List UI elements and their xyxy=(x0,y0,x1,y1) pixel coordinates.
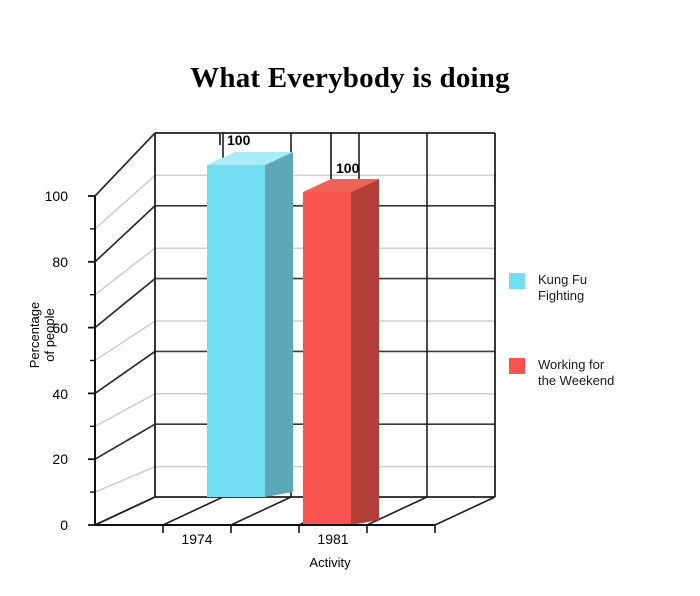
x-axis-title: Activity xyxy=(160,555,500,570)
legend-swatch-working-for-the-weekend xyxy=(509,358,525,374)
bar-working-for-the-weekend[interactable] xyxy=(303,179,379,525)
y-axis-title-text: Percentage of people xyxy=(27,302,57,369)
x-tick-label-1981: 1981 xyxy=(288,531,378,547)
y-axis-ticks xyxy=(88,196,95,525)
legend-label-working-for-the-weekend: Working for the Weekend xyxy=(538,357,614,389)
y-tick-label-20: 20 xyxy=(22,451,68,467)
chart-legend: Kung Fu Fighting Working for the Weekend xyxy=(509,272,689,442)
bar-kung-fu-fighting-side xyxy=(265,152,293,497)
bar-kung-fu-fighting[interactable] xyxy=(207,152,293,497)
y-tick-label-0: 0 xyxy=(22,517,68,533)
legend-label-kung-fu-fighting: Kung Fu Fighting xyxy=(538,272,587,304)
floor-plane xyxy=(95,497,495,525)
left-wall xyxy=(95,133,155,525)
y-tick-label-80: 80 xyxy=(22,254,68,270)
chart-page: What Everybody is doing xyxy=(0,0,700,596)
bar-value-label-1981: 100 xyxy=(336,160,359,176)
bar-working-for-the-weekend-side xyxy=(351,179,379,525)
y-tick-label-100: 100 xyxy=(22,188,68,204)
y-axis-title: Percentage of people xyxy=(27,275,57,395)
bar-working-for-the-weekend-front xyxy=(303,192,351,525)
bar-value-label-1974: 100 xyxy=(227,132,250,148)
legend-item-kung-fu-fighting[interactable]: Kung Fu Fighting xyxy=(509,272,689,304)
legend-swatch-kung-fu-fighting xyxy=(509,273,525,289)
bar-kung-fu-fighting-front xyxy=(207,165,265,497)
x-tick-label-1974: 1974 xyxy=(152,531,242,547)
legend-item-working-for-the-weekend[interactable]: Working for the Weekend xyxy=(509,357,689,389)
